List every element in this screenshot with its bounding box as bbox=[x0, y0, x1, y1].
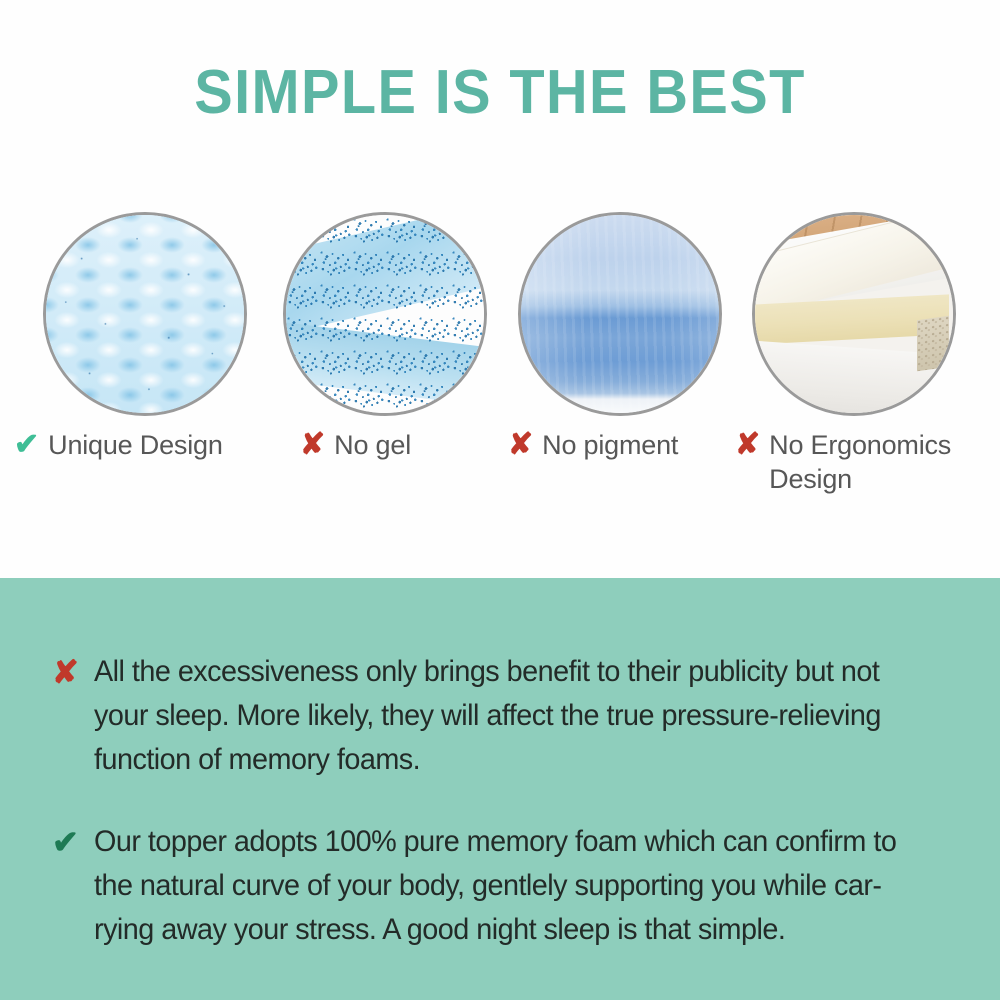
feature-caption-unique-design: ✔ Unique Design bbox=[14, 428, 264, 462]
circle-frame bbox=[752, 212, 956, 416]
feature-image-unique-design bbox=[43, 212, 247, 416]
circle-frame bbox=[43, 212, 247, 416]
blue-gel-speckled-foam-block-photo bbox=[286, 215, 484, 413]
feature-caption-row: ✔ Unique Design ✘ No gel ✘ No pigment ✘ … bbox=[0, 428, 1000, 538]
feature-label: No pigment bbox=[542, 428, 678, 462]
feature-label: No Ergonomics Design bbox=[769, 428, 985, 496]
product-infographic: SIMPLE IS THE BEST bbox=[0, 0, 1000, 1000]
page-title: SIMPLE IS THE BEST bbox=[35, 62, 965, 124]
bottom-teal-panel: ✘ All the excessiveness only brings bene… bbox=[0, 578, 1000, 1000]
top-white-section: SIMPLE IS THE BEST bbox=[0, 0, 1000, 578]
circle-frame bbox=[518, 212, 722, 416]
check-icon: ✔ bbox=[52, 820, 78, 864]
gel-speckle-texture bbox=[286, 215, 484, 413]
panel-paragraph-negative: ✘ All the excessiveness only brings bene… bbox=[52, 650, 972, 782]
cross-icon: ✘ bbox=[52, 650, 78, 694]
check-icon: ✔ bbox=[14, 428, 39, 462]
feature-image-no-pigment bbox=[518, 212, 722, 416]
feature-image-no-gel bbox=[283, 212, 487, 416]
cross-icon: ✘ bbox=[300, 428, 325, 462]
cream-memory-foam-slab-on-bed-photo bbox=[755, 215, 953, 413]
cross-icon: ✘ bbox=[735, 428, 760, 462]
circle-frame bbox=[283, 212, 487, 416]
paragraph-text: All the excessiveness only brings benefi… bbox=[94, 650, 937, 782]
feature-image-no-ergonomics-design bbox=[752, 212, 956, 416]
egg-crate-blue-foam-photo bbox=[46, 215, 244, 413]
feature-caption-no-pigment: ✘ No pigment bbox=[508, 428, 723, 462]
cross-icon: ✘ bbox=[508, 428, 533, 462]
feature-label: No gel bbox=[334, 428, 411, 462]
paragraph-text: Our topper adopts 100% pure memory foam … bbox=[94, 820, 937, 952]
feature-circle-row bbox=[0, 212, 1000, 416]
feature-caption-no-gel: ✘ No gel bbox=[300, 428, 515, 462]
panel-paragraph-positive: ✔ Our topper adopts 100% pure memory foa… bbox=[52, 820, 972, 952]
foam-corner-texture bbox=[917, 316, 949, 372]
blue-pigmented-foam-surface-photo bbox=[521, 215, 719, 413]
feature-label: Unique Design bbox=[48, 428, 223, 462]
feature-caption-no-ergonomics-design: ✘ No Ergonomics Design bbox=[735, 428, 985, 496]
